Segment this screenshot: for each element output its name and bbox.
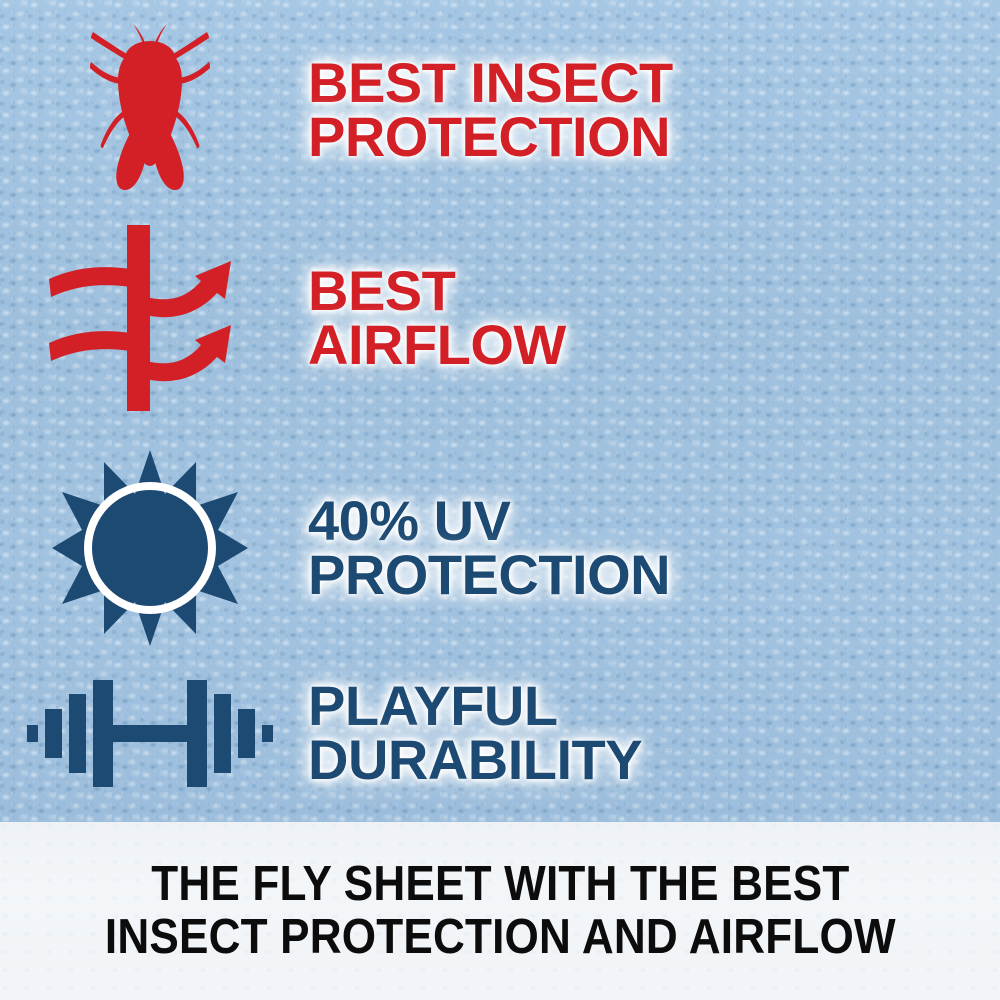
feature-text-cell: BEST AIRFLOW	[300, 264, 1000, 372]
feature-icon-cell	[0, 223, 300, 413]
airflow-icon	[45, 223, 255, 413]
feature-row-insect-protection: BEST INSECT PROTECTION	[0, 10, 1000, 210]
feature-label-uv-protection: 40% UV PROTECTION	[308, 494, 1000, 602]
feature-text-cell: BEST INSECT PROTECTION	[300, 56, 1000, 164]
feature-label-durability: PLAYFUL DURABILITY	[308, 679, 1000, 787]
feature-row-durability: PLAYFUL DURABILITY	[0, 648, 1000, 818]
caption-banner: THE FLY SHEET WITH THE BEST INSECT PROTE…	[0, 822, 1000, 1000]
sun-icon	[50, 448, 250, 648]
dumbbell-icon	[25, 671, 275, 796]
product-feature-infographic: BEST INSECT PROTECTION	[0, 0, 1000, 1000]
feature-icon-cell	[0, 671, 300, 796]
feature-text-cell: 40% UV PROTECTION	[300, 494, 1000, 602]
feature-text-cell: PLAYFUL DURABILITY	[300, 679, 1000, 787]
feature-icon-cell	[0, 18, 300, 203]
fly-icon	[75, 18, 225, 203]
caption-text: THE FLY SHEET WITH THE BEST INSECT PROTE…	[105, 858, 896, 964]
feature-row-uv-protection: 40% UV PROTECTION	[0, 440, 1000, 655]
feature-label-insect-protection: BEST INSECT PROTECTION	[308, 56, 1000, 164]
feature-row-airflow: BEST AIRFLOW	[0, 218, 1000, 418]
feature-icon-cell	[0, 448, 300, 648]
feature-label-airflow: BEST AIRFLOW	[308, 264, 1000, 372]
